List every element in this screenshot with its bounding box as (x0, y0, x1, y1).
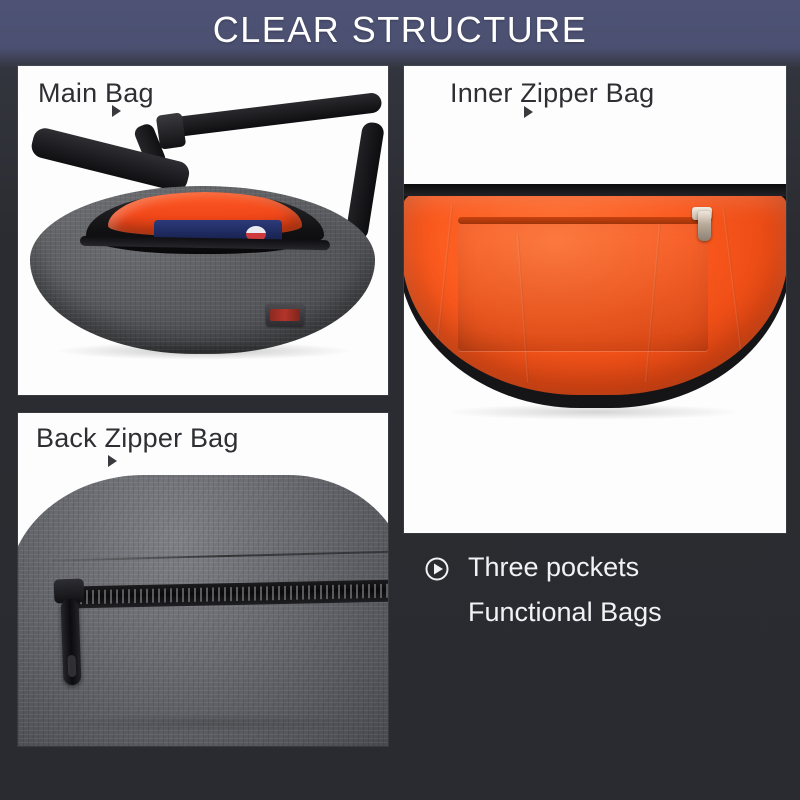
zipper-pull-hole (67, 655, 76, 677)
triangle-right-icon (112, 105, 121, 117)
product-shadow (54, 342, 354, 360)
shoulder-strap-top (167, 92, 383, 138)
fabric-fold (723, 209, 743, 358)
brand-label-patch (266, 304, 304, 326)
main-bag-body (30, 186, 375, 354)
header-band: CLEAR STRUCTURE (0, 0, 800, 60)
black-trim-edge (404, 184, 786, 196)
feature-line-2: Functional Bags (468, 597, 662, 628)
panel-label-inner-zipper-bag: Inner Zipper Bag (450, 78, 654, 109)
feature-lines: Three pockets Functional Bags (468, 552, 662, 628)
brand-label-inner (270, 309, 300, 321)
page-title: CLEAR STRUCTURE (213, 9, 588, 51)
inner-zipper-bag-product-image (404, 66, 786, 533)
panel-back-zipper-bag[interactable]: Back Zipper Bag (18, 413, 388, 746)
inner-zipper-pocket (458, 219, 708, 351)
panel-label-back-zipper-bag: Back Zipper Bag (36, 423, 239, 454)
zipper-pull-tab (698, 211, 711, 241)
fabric-fold (433, 203, 454, 382)
panel-inner-zipper-bag[interactable]: Inner Zipper Bag (404, 66, 786, 533)
product-shadow (444, 404, 744, 420)
main-bag-product-image (18, 66, 388, 395)
feature-line-1: Three pockets (468, 552, 662, 583)
feature-callout: Three pockets Functional Bags (424, 552, 784, 628)
play-circle-icon (424, 556, 450, 582)
triangle-right-icon (108, 455, 117, 467)
zipper-pull-tab (61, 599, 82, 686)
zipper-teeth (62, 583, 388, 604)
inner-bag-body (404, 186, 786, 408)
product-shadow (48, 713, 368, 733)
panel-label-main-bag: Main Bag (38, 78, 154, 109)
strap-buckle (156, 112, 186, 149)
panel-main-bag[interactable]: Main Bag (18, 66, 388, 395)
back-zipper-bag-product-image (18, 413, 388, 746)
triangle-right-icon (524, 106, 533, 118)
orange-interior (404, 193, 786, 395)
inner-zipper-track (458, 217, 710, 224)
